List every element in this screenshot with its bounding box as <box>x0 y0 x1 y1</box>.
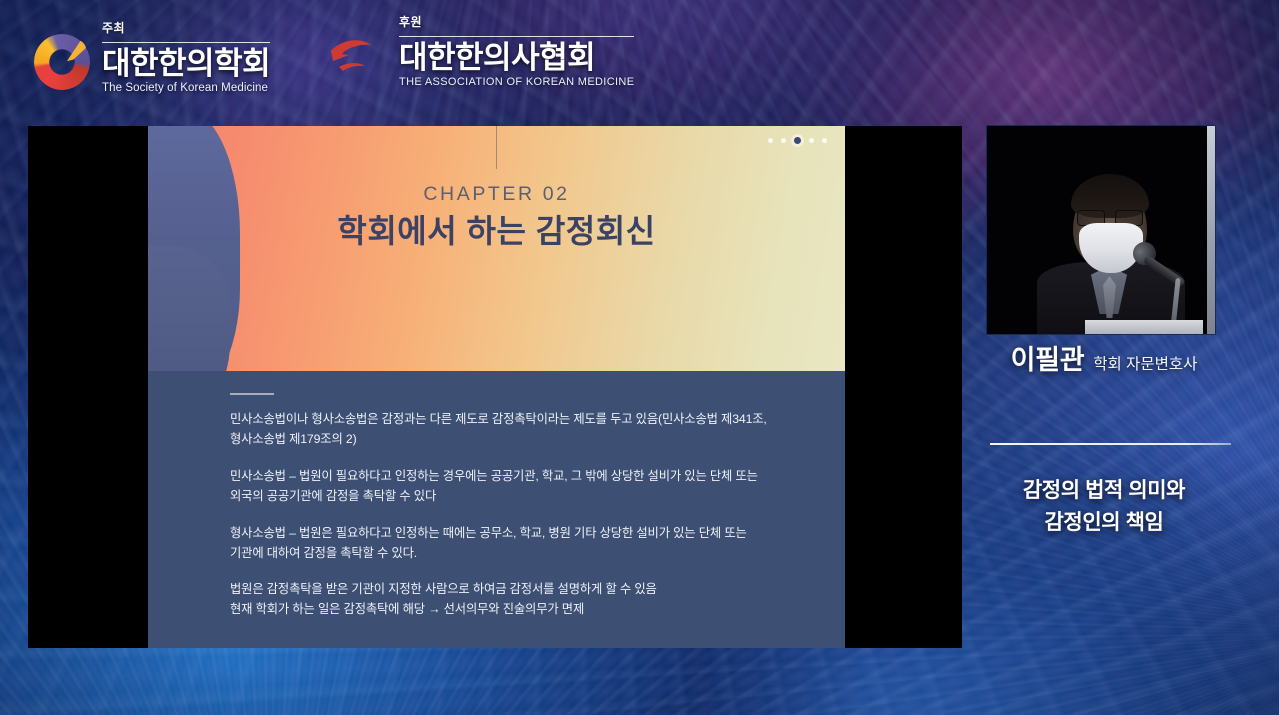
sponsor-subtitle: THE ASSOCIATION OF KOREAN MEDICINE <box>399 76 634 88</box>
pagination-dot-4[interactable] <box>809 138 814 143</box>
talk-title-line-2: 감정인의 책임 <box>978 507 1230 539</box>
organizer-logo-group: 주최 대한한의학회 The Society of Korean Medicine <box>34 22 270 94</box>
slide-pagination-dots[interactable] <box>768 137 827 144</box>
hero-vertical-rule <box>496 126 497 169</box>
organizer-kicker: 주최 <box>102 22 270 38</box>
stage-light-edge <box>1207 126 1215 334</box>
slide-chapter-label: CHAPTER 02 <box>148 183 845 206</box>
slide-letterbox: CHAPTER 02 학회에서 하는 감정회신 민사소송법이나 형사소송법은 감… <box>28 126 962 648</box>
slide-paragraph-2: 민사소송법 – 법원이 필요하다고 인정하는 경우에는 공공기관, 학교, 그 … <box>230 467 779 507</box>
sponsor-logo-group: 후원 대한한의사협회 THE ASSOCIATION OF KOREAN MED… <box>327 16 634 88</box>
speaker-video-feed[interactable] <box>987 126 1215 334</box>
slide-paragraph-1: 민사소송법이나 형사소송법은 감정과는 다른 제도로 감정촉탁이라는 제도를 두… <box>230 410 779 450</box>
slide-paragraph-5: 현재 학회가 하는 일은 감정촉탁에 해당 → 선서의무와 진술의무가 면제 <box>230 600 779 620</box>
slide-paragraph-3: 형사소송법 – 법원은 필요하다고 인정하는 때에는 공무소, 학교, 병원 기… <box>230 524 779 564</box>
speaker-panel: 이필관 학회 자문변호사 감정의 법적 의미와 감정인의 책임 <box>978 120 1246 560</box>
presentation-slide[interactable]: CHAPTER 02 학회에서 하는 감정회신 민사소송법이나 형사소송법은 감… <box>148 126 845 648</box>
ring-logo-icon <box>34 34 90 94</box>
slide-chapter-title: 학회에서 하는 감정회신 <box>148 206 845 252</box>
broadcast-stage: 주최 대한한의학회 The Society of Korean Medicine… <box>0 0 1279 715</box>
organizer-title: 대한한의학회 <box>102 48 270 80</box>
slide-body-divider <box>230 393 274 395</box>
speaker-identity: 이필관 학회 자문변호사 <box>978 338 1230 377</box>
organizer-kicker-rule <box>102 42 270 43</box>
organizer-subtitle: The Society of Korean Medicine <box>102 82 270 94</box>
speaker-role: 학회 자문변호사 <box>1093 352 1197 374</box>
panel-divider <box>990 443 1231 445</box>
sponsor-logo-bar: 주최 대한한의학회 The Society of Korean Medicine… <box>0 0 1279 104</box>
sponsor-kicker: 후원 <box>399 16 634 32</box>
slide-hero-banner: CHAPTER 02 학회에서 하는 감정회신 <box>148 126 845 371</box>
slide-paragraph-4: 법원은 감정촉탁을 받은 기관이 지정한 사람으로 하여금 감정서를 설명하게 … <box>230 580 779 600</box>
sponsor-kicker-rule <box>399 36 634 37</box>
pagination-dot-2[interactable] <box>781 138 786 143</box>
pagination-dot-1[interactable] <box>768 138 773 143</box>
podium-shape <box>1085 320 1203 334</box>
talk-title: 감정의 법적 의미와 감정인의 책임 <box>978 475 1230 539</box>
pagination-dot-5[interactable] <box>822 138 827 143</box>
sponsor-title: 대한한의사협회 <box>399 42 634 74</box>
speaker-name: 이필관 <box>1011 338 1085 377</box>
slide-body: 민사소송법이나 형사소송법은 감정과는 다른 제도로 감정촉탁이라는 제도를 두… <box>148 371 845 648</box>
swoosh-logo-icon <box>327 34 387 88</box>
pagination-dot-3-active[interactable] <box>794 137 801 144</box>
talk-title-line-1: 감정의 법적 의미와 <box>978 475 1230 507</box>
